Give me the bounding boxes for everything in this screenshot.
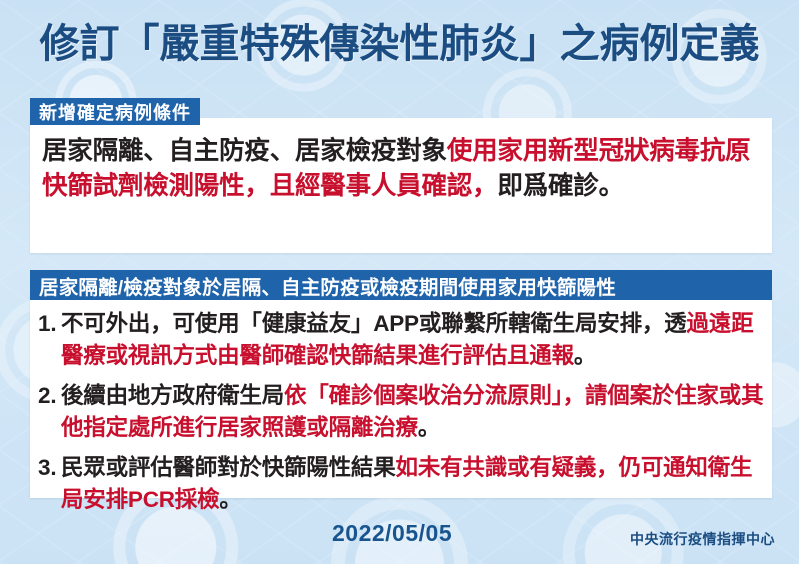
section-2-header-bar: 居家隔離/檢疫對象於居隔、自主防疫或檢疫期間使用家用快篩陽性 [30,270,772,300]
section-1-header-bar: 新增確定病例條件 [30,98,200,125]
poster-root: 修訂「嚴重特殊傳染性肺炎」之病例定義 新增確定病例條件 居家隔離、自主防疫、居家… [0,0,799,564]
list-item: 2. 後續由地方政府衛生局依「確診個案收治分流原則」，請個案於住家或其他指定處所… [38,380,768,444]
section-1-paragraph-plain-1: 居家隔離、自主防疫、居家檢疫對象 [42,137,447,165]
page-title: 修訂「嚴重特殊傳染性肺炎」之病例定義 [0,22,799,66]
list-item-plain-1: 不可外出，可使用「健康益友」APP或聯繫所轄衛生局安排，透 [61,311,686,336]
list-item: 3. 民眾或評估醫師對於快篩陽性結果如未有共識或有疑義，仍可通知衛生局安排PCR… [38,452,768,516]
section-1-paragraph: 居家隔離、自主防疫、居家檢疫對象使用家用新型冠狀病毒抗原快篩試劑檢測陽性，且經醫… [42,134,764,204]
section-1-header-label: 新增確定病例條件 [39,99,191,125]
section-2-header-label: 居家隔離/檢疫對象於居隔、自主防疫或檢疫期間使用家用快篩陽性 [39,271,616,300]
list-item-plain-1: 後續由地方政府衛生局 [61,383,284,408]
list-item: 1. 不可外出，可使用「健康益友」APP或聯繫所轄衛生局安排，透過遠距醫療或視訊… [38,308,768,372]
poster-content: 修訂「嚴重特殊傳染性肺炎」之病例定義 新增確定病例條件 居家隔離、自主防疫、居家… [0,0,799,564]
list-item-plain-1: 民眾或評估醫師對於快篩陽性結果 [61,455,396,480]
section-1-paragraph-plain-2: 即爲確診。 [497,172,624,200]
list-item-text: 民眾或評估醫師對於快篩陽性結果如未有共識或有疑義，仍可通知衛生局安排PCR採檢。 [61,452,768,516]
list-item-number: 2. [38,380,61,412]
list-item-plain-2: 。 [574,343,596,368]
list-item-plain-2: 。 [219,487,241,512]
organization-name: 中央流行疫情指揮中心 [630,529,775,549]
section-2-list: 1. 不可外出，可使用「健康益友」APP或聯繫所轄衛生局安排，透過遠距醫療或視訊… [38,308,768,524]
list-item-number: 3. [38,452,61,484]
list-item-text: 不可外出，可使用「健康益友」APP或聯繫所轄衛生局安排，透過遠距醫療或視訊方式由… [61,308,768,372]
list-item-number: 1. [38,308,61,340]
list-item-text: 後續由地方政府衛生局依「確診個案收治分流原則」，請個案於住家或其他指定處所進行居… [61,380,768,444]
publication-date: 2022/05/05 [332,520,452,547]
list-item-plain-2: 。 [418,415,440,440]
